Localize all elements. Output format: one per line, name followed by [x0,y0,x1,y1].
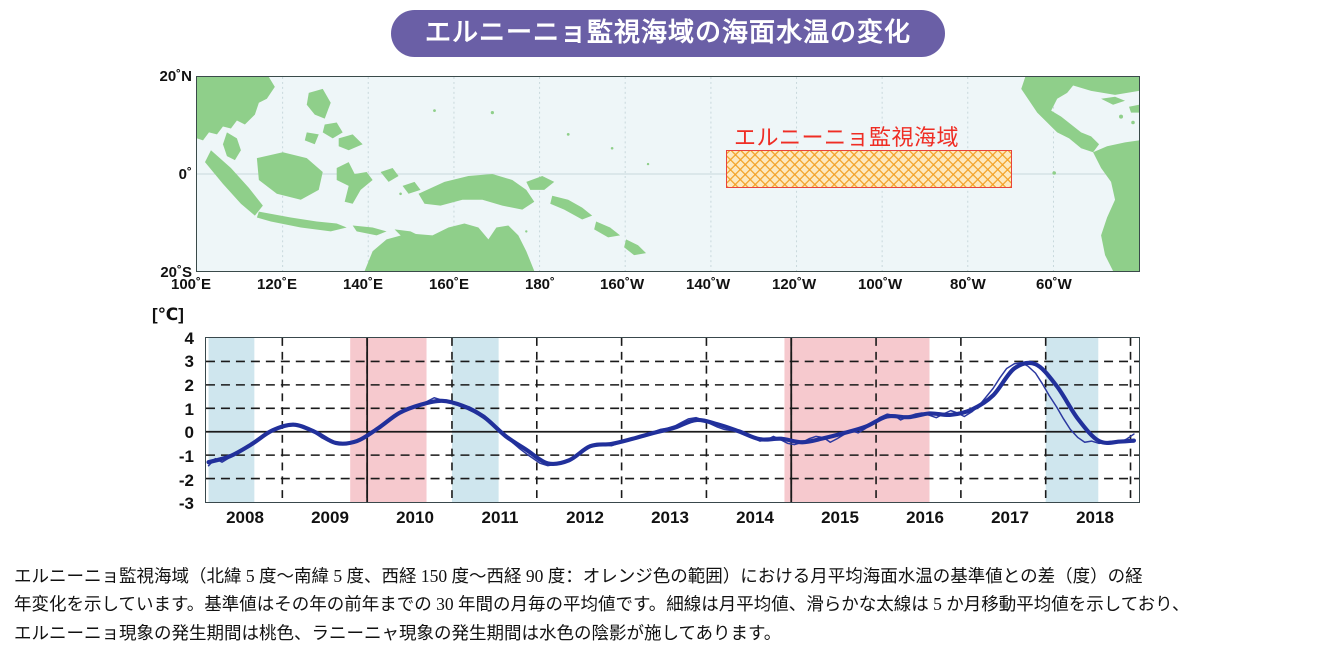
caption-line-3: エルニーニョ現象の発生期間は桃色、ラニーニャ現象の発生期間は水色の陰影が施してあ… [14,619,1326,647]
shaded-period-la-nina [1046,338,1099,502]
chart-xtick-2010: 2010 [385,508,445,528]
chart-ytick-3: 3 [152,352,194,372]
map-lat-tick-0: 0˚ [158,166,192,183]
sst-anomaly-chart [205,337,1140,503]
title-bar: エルニーニョ監視海域の海面水温の変化 [0,10,1336,57]
page-title: エルニーニョ監視海域の海面水温の変化 [391,10,945,57]
chart-xtick-2014: 2014 [725,508,785,528]
figure-caption: エルニーニョ監視海域（北緯 5 度〜南緯 5 度、西経 150 度〜西経 90 … [14,562,1326,647]
chart-xtick-2016: 2016 [895,508,955,528]
map-lon-tick-80w: 80˚W [950,276,986,293]
chart-ytick-2: 2 [152,376,194,396]
chart-xtick-2018: 2018 [1065,508,1125,528]
map-lon-tick-160e: 160˚E [429,276,469,293]
chart-xtick-2013: 2013 [640,508,700,528]
chart-ytick-m3: -3 [152,494,194,514]
map-lon-tick-160w: 160˚W [600,276,644,293]
map-lon-tick-140w: 140˚W [686,276,730,293]
map-lon-tick-100e: 100˚E [171,276,211,293]
shaded-period-el-nino [784,338,929,502]
shaded-period-la-nina [452,338,499,502]
map-lat-tick-20n: 20˚N [158,68,192,85]
caption-line-1: エルニーニョ監視海域（北緯 5 度〜南緯 5 度、西経 150 度〜西経 90 … [14,562,1326,590]
monitoring-region-box [726,150,1012,188]
chart-xtick-2011: 2011 [470,508,530,528]
el-nino-monitoring-map [196,76,1140,272]
chart-ytick-4: 4 [152,329,194,349]
chart-xtick-2017: 2017 [980,508,1040,528]
map-lon-tick-100w: 100˚W [858,276,902,293]
chart-ytick-m1: -1 [152,447,194,467]
map-lon-tick-120w: 120˚W [772,276,816,293]
map-lon-tick-60w: 60˚W [1036,276,1072,293]
map-lon-tick-140e: 140˚E [343,276,383,293]
chart-xtick-2009: 2009 [300,508,360,528]
chart-ytick-m2: -2 [152,471,194,491]
chart-ytick-1: 1 [152,400,194,420]
chart-xtick-2012: 2012 [555,508,615,528]
map-lon-tick-120e: 120˚E [257,276,297,293]
shaded-period-la-nina [209,338,255,502]
chart-ytick-0: 0 [152,423,194,443]
map-lon-tick-180: 180˚ [525,276,555,293]
chart-xtick-2015: 2015 [810,508,870,528]
chart-xtick-2008: 2008 [215,508,275,528]
caption-line-2: 年変化を示しています。基準値はその年の前年までの 30 年間の月毎の平均値です。… [14,590,1326,618]
chart-graphic [206,338,1139,502]
chart-y-axis-unit: [℃] [152,305,184,325]
monitoring-region-label: エルニーニョ監視海域 [734,120,959,152]
